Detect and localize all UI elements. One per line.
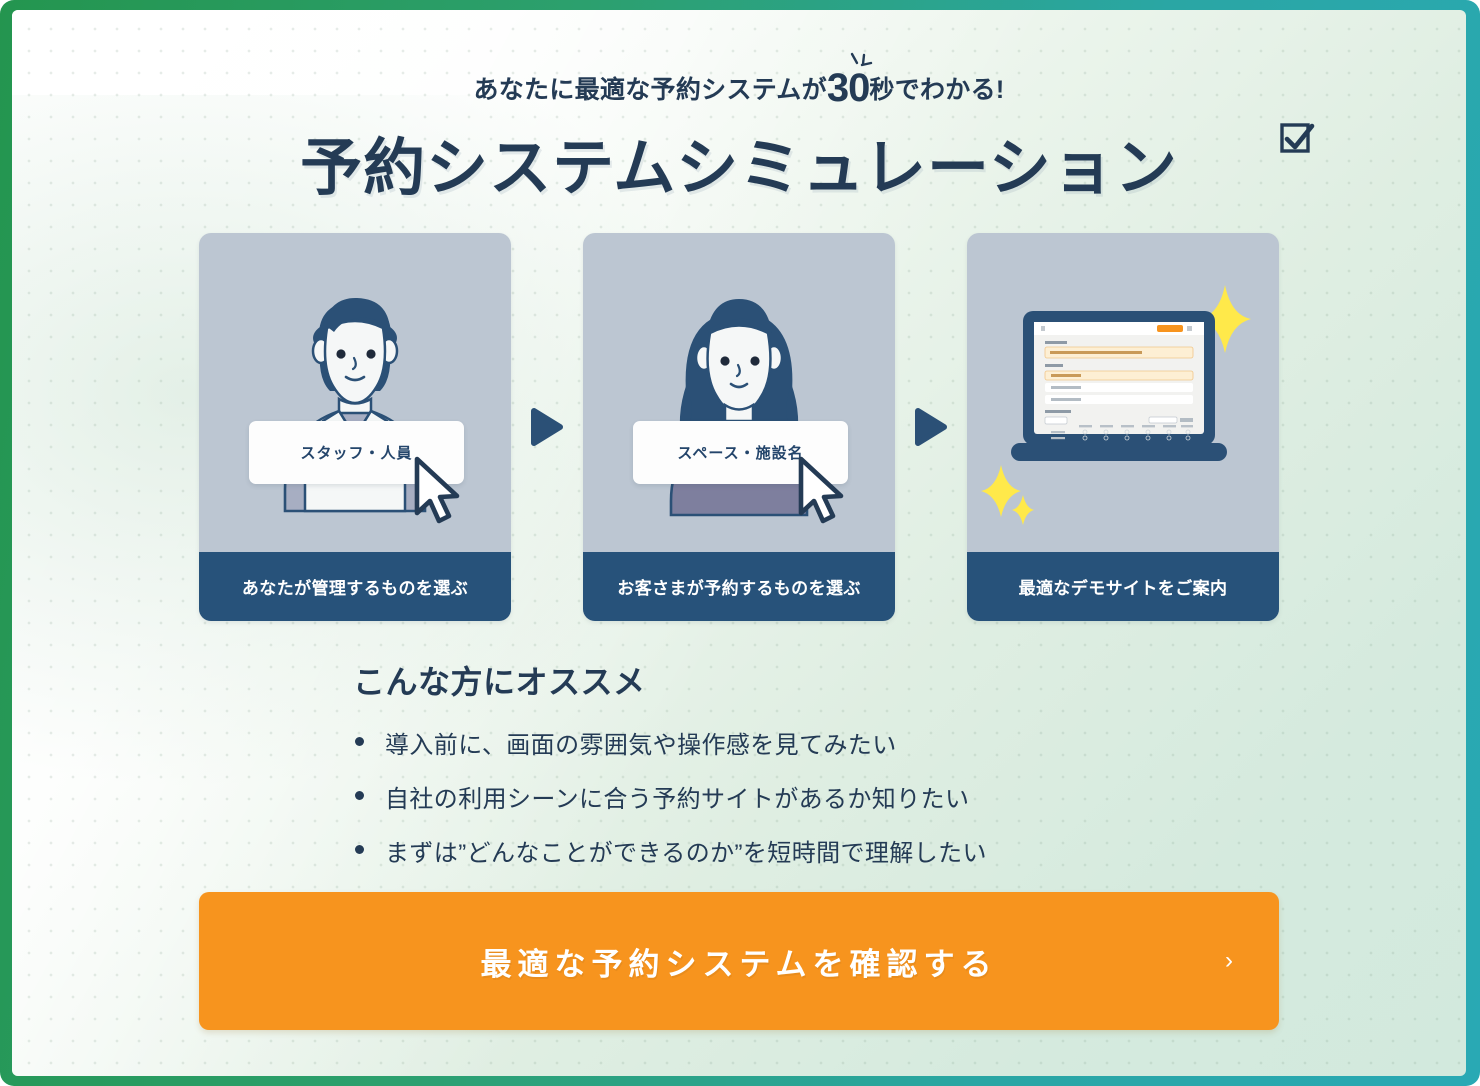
confirm-reservation-system-button[interactable]: 最適な予約システムを確認する › — [199, 892, 1279, 1030]
eyebrow-text: あなたに最適な予約システムが30秒でわかる! — [12, 66, 1466, 111]
list-item-label: 自社の利用シーンに合う予約サイトがあるか知りたい — [385, 786, 969, 813]
step-separator-1 — [519, 233, 575, 621]
chevron-right-icon: › — [1225, 947, 1233, 975]
eyebrow-before: あなたに最適な予約システムが — [473, 76, 826, 104]
steps-row: スタッフ・人員 あなたが管理するものを選ぶ — [199, 233, 1279, 621]
step-pill-label: スペース・施設名 — [677, 442, 803, 463]
list-item: まずは”どんなことができるのか”を短時間で理解したい — [353, 833, 1279, 868]
recommend-section: こんな方にオススメ 導入前に、画面の雰囲気や操作感を見てみたい 自社の利用シーン… — [199, 657, 1279, 868]
list-item: 自社の利用シーンに合う予約サイトがあるか知りたい — [353, 779, 1279, 814]
list-item-label: 導入前に、画面の雰囲気や操作感を見てみたい — [385, 732, 897, 759]
step-card-staff[interactable]: スタッフ・人員 あなたが管理するものを選ぶ — [199, 233, 511, 621]
step-separator-2 — [903, 233, 959, 621]
checkbox-check-icon — [1278, 121, 1318, 161]
step-card-demo[interactable]: 最適なデモサイトをご案内 — [967, 233, 1279, 621]
page-content: あなたに最適な予約システムが30秒でわかる! 予約システムシミュレーション — [12, 66, 1466, 1076]
cta-container: 最適な予約システムを確認する › — [199, 892, 1279, 1030]
step-footer-space: お客さまが予約するものを選ぶ — [583, 552, 895, 621]
bullet-dot-icon — [355, 737, 364, 746]
page-frame: あなたに最適な予約システムが30秒でわかる! 予約システムシミュレーション — [0, 0, 1480, 1086]
mouse-cursor-icon — [795, 455, 849, 527]
step-footer-label: お客さまが予約するものを選ぶ — [617, 574, 861, 599]
page-stage: あなたに最適な予約システムが30秒でわかる! 予約システムシミュレーション — [12, 10, 1466, 1076]
bullet-dot-icon — [355, 845, 364, 854]
list-item: 導入前に、画面の雰囲気や操作感を見てみたい — [353, 725, 1279, 760]
eyebrow-number: 30 — [827, 66, 870, 110]
sparkle-small-icon — [1012, 495, 1034, 525]
cta-label: 最適な予約システムを確認する — [480, 939, 997, 984]
step-pill-label: スタッフ・人員 — [300, 442, 412, 463]
recommend-list: 導入前に、画面の雰囲気や操作感を見てみたい 自社の利用シーンに合う予約サイトがあ… — [353, 725, 1279, 868]
arrow-right-icon — [530, 407, 564, 447]
page-title: 予約システムシミュレーション — [12, 117, 1466, 207]
step-footer-label: あなたが管理するものを選ぶ — [242, 574, 468, 599]
recommend-heading: こんな方にオススメ — [353, 657, 1279, 703]
eyebrow-after: 秒でわかる! — [869, 76, 1004, 104]
step-footer-demo: 最適なデモサイトをご案内 — [967, 552, 1279, 621]
step-footer-label: 最適なデモサイトをご案内 — [1019, 574, 1228, 599]
emphasis-marks-icon — [849, 52, 875, 68]
bullet-dot-icon — [355, 791, 364, 800]
step-card-space[interactable]: スペース・施設名 お客さまが予約するものを選ぶ — [583, 233, 895, 621]
mouse-cursor-icon — [411, 455, 465, 527]
arrow-right-icon — [914, 407, 948, 447]
list-item-label: まずは”どんなことができるのか”を短時間で理解したい — [385, 840, 987, 867]
eyebrow-number-wrap: 30 — [827, 66, 870, 111]
step-footer-staff: あなたが管理するものを選ぶ — [199, 552, 511, 621]
page-title-text: 予約システムシミュレーション — [300, 134, 1178, 203]
